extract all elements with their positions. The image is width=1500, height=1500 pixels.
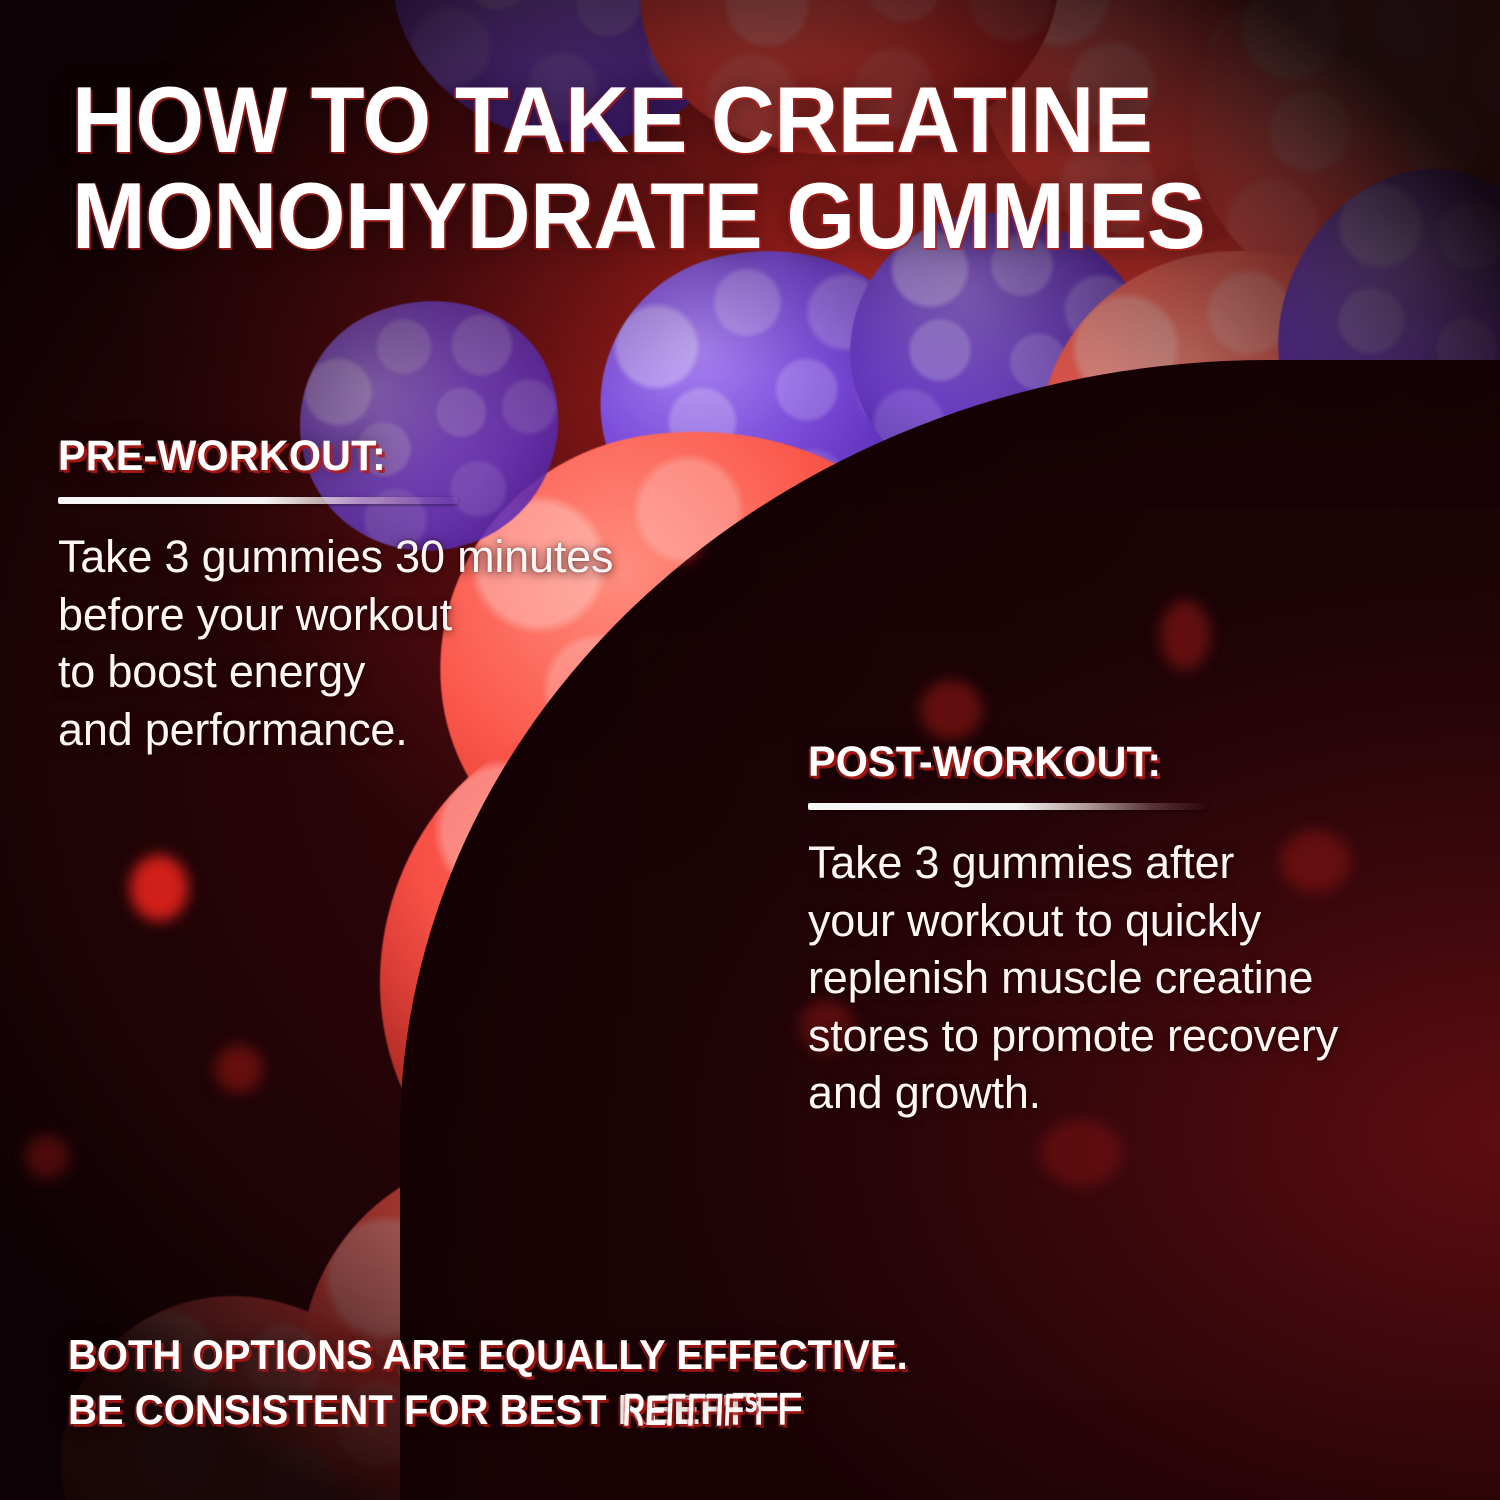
page-title-line-2: MONOHYDRATE GUMMIES — [72, 168, 1360, 264]
footer-garbled-word-layer-b: ᏒEᎱᒥᒣᖴᔆ — [622, 1383, 758, 1438]
content-layer: HOW TO TAKE CREATINE MONOHYDRATE GUMMIES… — [0, 0, 1500, 1500]
page-title: HOW TO TAKE CREATINE MONOHYDRATE GUMMIES — [72, 72, 1360, 264]
pre-workout-body-line: Take 3 gummies 30 minutes — [58, 528, 758, 586]
post-workout-body-line: your workout to quickly — [808, 892, 1488, 950]
footer-line-1: BOTH OPTIONS ARE EQUALLY EFFECTIVE. — [68, 1327, 1208, 1382]
post-workout-body: Take 3 gummies after your workout to qui… — [808, 834, 1488, 1122]
footer-line-2-prefix: BE CONSISTENT FOR BEST — [68, 1386, 618, 1433]
post-workout-underline — [808, 803, 1208, 810]
footer-garbled-word: REEⱵ'ᎱᖴᖴᏒEᎱᒥᒣᖴᔆ — [618, 1382, 803, 1437]
pre-workout-body-line: and performance. — [58, 701, 758, 759]
post-workout-body-line: Take 3 gummies after — [808, 834, 1488, 892]
page-title-line-1: HOW TO TAKE CREATINE — [72, 67, 1152, 172]
infographic-poster: HOW TO TAKE CREATINE MONOHYDRATE GUMMIES… — [0, 0, 1500, 1500]
pre-workout-body-line: before your workout — [58, 586, 758, 644]
footer-line-2: BE CONSISTENT FOR BEST REEⱵ'ᎱᖴᖴᏒEᎱᒥᒣᖴᔆ — [68, 1382, 1208, 1437]
pre-workout-underline — [58, 497, 458, 504]
post-workout-body-line: and growth. — [808, 1064, 1488, 1122]
pre-workout-heading: PRE-WORKOUT: — [58, 432, 730, 481]
pre-workout-body: Take 3 gummies 30 minutes before your wo… — [58, 528, 758, 758]
post-workout-heading: POST-WORKOUT: — [808, 738, 1461, 787]
footer-callout: BOTH OPTIONS ARE EQUALLY EFFECTIVE. BE C… — [68, 1327, 1208, 1438]
post-workout-body-line: replenish muscle creatine — [808, 949, 1488, 1007]
post-workout-body-line: stores to promote recovery — [808, 1007, 1488, 1065]
pre-workout-body-line: to boost energy — [58, 643, 758, 701]
pre-workout-block: PRE-WORKOUT: Take 3 gummies 30 minutes b… — [58, 432, 758, 758]
post-workout-block: POST-WORKOUT: Take 3 gummies after your … — [808, 738, 1488, 1122]
